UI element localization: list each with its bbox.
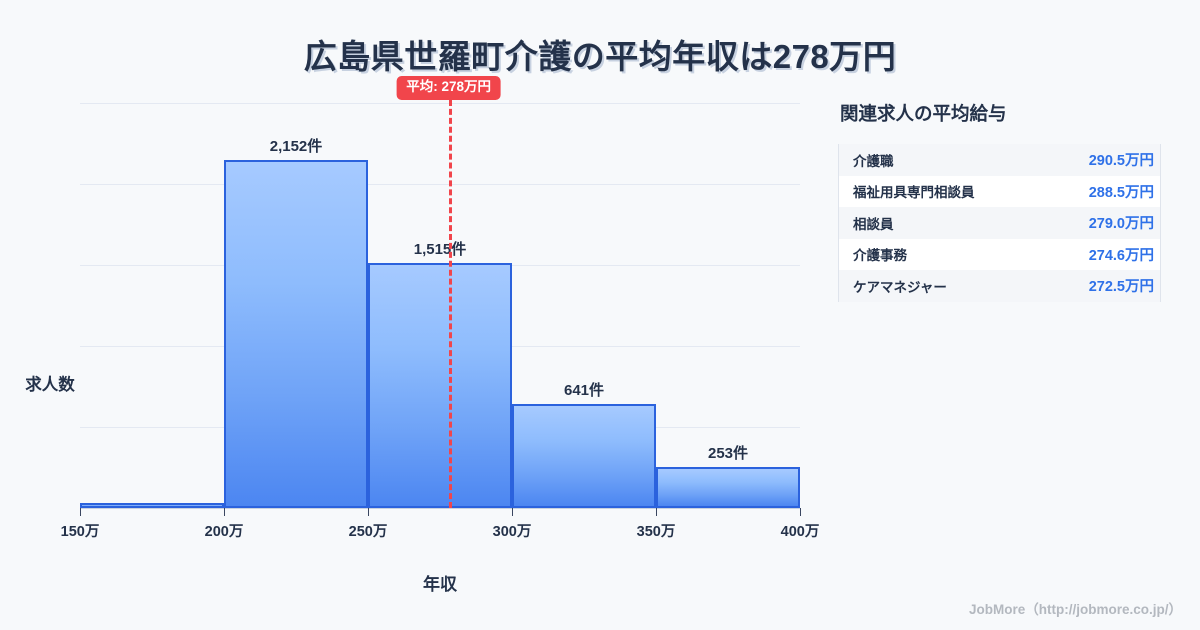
average-marker-line bbox=[449, 100, 452, 508]
x-axis-tick-label: 200万 bbox=[205, 520, 244, 541]
histogram-bar[interactable] bbox=[656, 467, 800, 508]
histogram-bar[interactable] bbox=[224, 160, 368, 508]
x-axis-label: 年収 bbox=[0, 570, 880, 595]
job-salary-cell: 288.5万円 bbox=[1089, 181, 1154, 202]
x-axis-tick bbox=[800, 508, 801, 516]
table-row[interactable]: 福祉用具専門相談員288.5万円 bbox=[839, 176, 1160, 208]
x-axis-tick-label: 250万 bbox=[349, 520, 388, 541]
x-axis-tick-label: 350万 bbox=[637, 520, 676, 541]
table-row[interactable]: ケアマネジャー272.5万円 bbox=[839, 270, 1160, 302]
x-axis-tick bbox=[656, 508, 657, 516]
job-title-cell: 福祉用具専門相談員 bbox=[853, 181, 975, 201]
gridline bbox=[80, 184, 800, 185]
x-axis-tick bbox=[512, 508, 513, 516]
related-salary-panel: 関連求人の平均給与 介護職290.5万円福祉用具専門相談員288.5万円相談員2… bbox=[838, 100, 1168, 302]
table-row[interactable]: 介護事務274.6万円 bbox=[839, 239, 1160, 271]
related-salary-table: 介護職290.5万円福祉用具専門相談員288.5万円相談員279.0万円介護事務… bbox=[838, 144, 1161, 302]
bar-value-label: 641件 bbox=[564, 379, 604, 400]
chart-page: 広島県世羅町介護の平均年収は278万円 求人数 2,152件1,515件641件… bbox=[0, 0, 1200, 630]
x-axis-tick bbox=[80, 508, 81, 516]
bar-value-label: 253件 bbox=[708, 442, 748, 463]
histogram-bar[interactable] bbox=[512, 404, 656, 508]
x-axis-line bbox=[80, 508, 800, 509]
page-title: 広島県世羅町介護の平均年収は278万円 bbox=[0, 30, 1200, 78]
job-salary-cell: 272.5万円 bbox=[1089, 275, 1154, 296]
job-title-cell: 介護事務 bbox=[853, 244, 907, 264]
job-salary-cell: 279.0万円 bbox=[1089, 212, 1154, 233]
job-salary-cell: 274.6万円 bbox=[1089, 244, 1154, 265]
x-axis-tick bbox=[368, 508, 369, 516]
bar-value-label: 1,515件 bbox=[414, 238, 467, 259]
table-row[interactable]: 相談員279.0万円 bbox=[839, 207, 1160, 239]
x-axis-tick-label: 400万 bbox=[781, 520, 820, 541]
job-title-cell: 介護職 bbox=[853, 150, 894, 170]
job-title-cell: 相談員 bbox=[853, 213, 894, 233]
gridline bbox=[80, 103, 800, 104]
histogram-bar[interactable] bbox=[80, 503, 224, 508]
x-axis-tick bbox=[224, 508, 225, 516]
job-salary-cell: 290.5万円 bbox=[1089, 149, 1154, 170]
x-axis-tick-label: 300万 bbox=[493, 520, 532, 541]
x-axis-tick-label: 150万 bbox=[61, 520, 100, 541]
job-title-cell: ケアマネジャー bbox=[853, 276, 947, 296]
histogram-bar[interactable] bbox=[368, 263, 512, 508]
y-axis-label: 求人数 bbox=[18, 371, 82, 395]
plot-area: 2,152件1,515件641件253件150万200万250万300万350万… bbox=[80, 100, 800, 508]
average-badge: 平均: 278万円 bbox=[396, 76, 501, 100]
related-salary-title: 関連求人の平均給与 bbox=[840, 100, 1168, 126]
bar-value-label: 2,152件 bbox=[270, 135, 323, 156]
footer-attribution: JobMore（http://jobmore.co.jp/） bbox=[969, 598, 1182, 618]
table-row[interactable]: 介護職290.5万円 bbox=[839, 144, 1160, 176]
histogram-chart: 求人数 2,152件1,515件641件253件150万200万250万300万… bbox=[0, 90, 830, 600]
